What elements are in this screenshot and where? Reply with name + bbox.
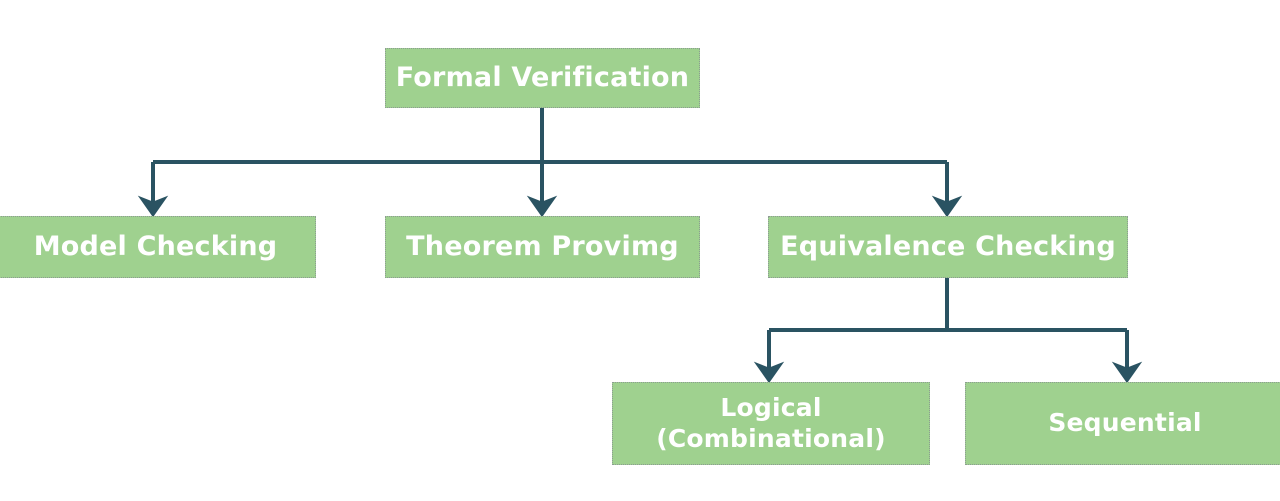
node-equivalence-checking-label: Equivalence Checking <box>769 231 1127 264</box>
node-logical-combinational-label: Logical (Combinational) <box>613 393 929 454</box>
node-model-checking[interactable]: Model Checking <box>0 216 316 278</box>
node-sequential[interactable]: Sequential <box>965 382 1280 465</box>
node-theorem-proving-label: Theorem Provimg <box>386 231 699 264</box>
node-logical-combinational-line1: Logical <box>613 393 929 424</box>
node-logical-combinational[interactable]: Logical (Combinational) <box>612 382 930 465</box>
diagram-canvas: Formal Verification Model Checking Theor… <box>0 0 1280 501</box>
node-formal-verification-label: Formal Verification <box>386 62 699 95</box>
node-model-checking-label: Model Checking <box>0 231 315 264</box>
node-equivalence-checking[interactable]: Equivalence Checking <box>768 216 1128 278</box>
node-logical-combinational-line2: (Combinational) <box>613 424 929 455</box>
node-sequential-label: Sequential <box>966 408 1280 439</box>
node-formal-verification[interactable]: Formal Verification <box>385 48 700 108</box>
node-theorem-proving[interactable]: Theorem Provimg <box>385 216 700 278</box>
